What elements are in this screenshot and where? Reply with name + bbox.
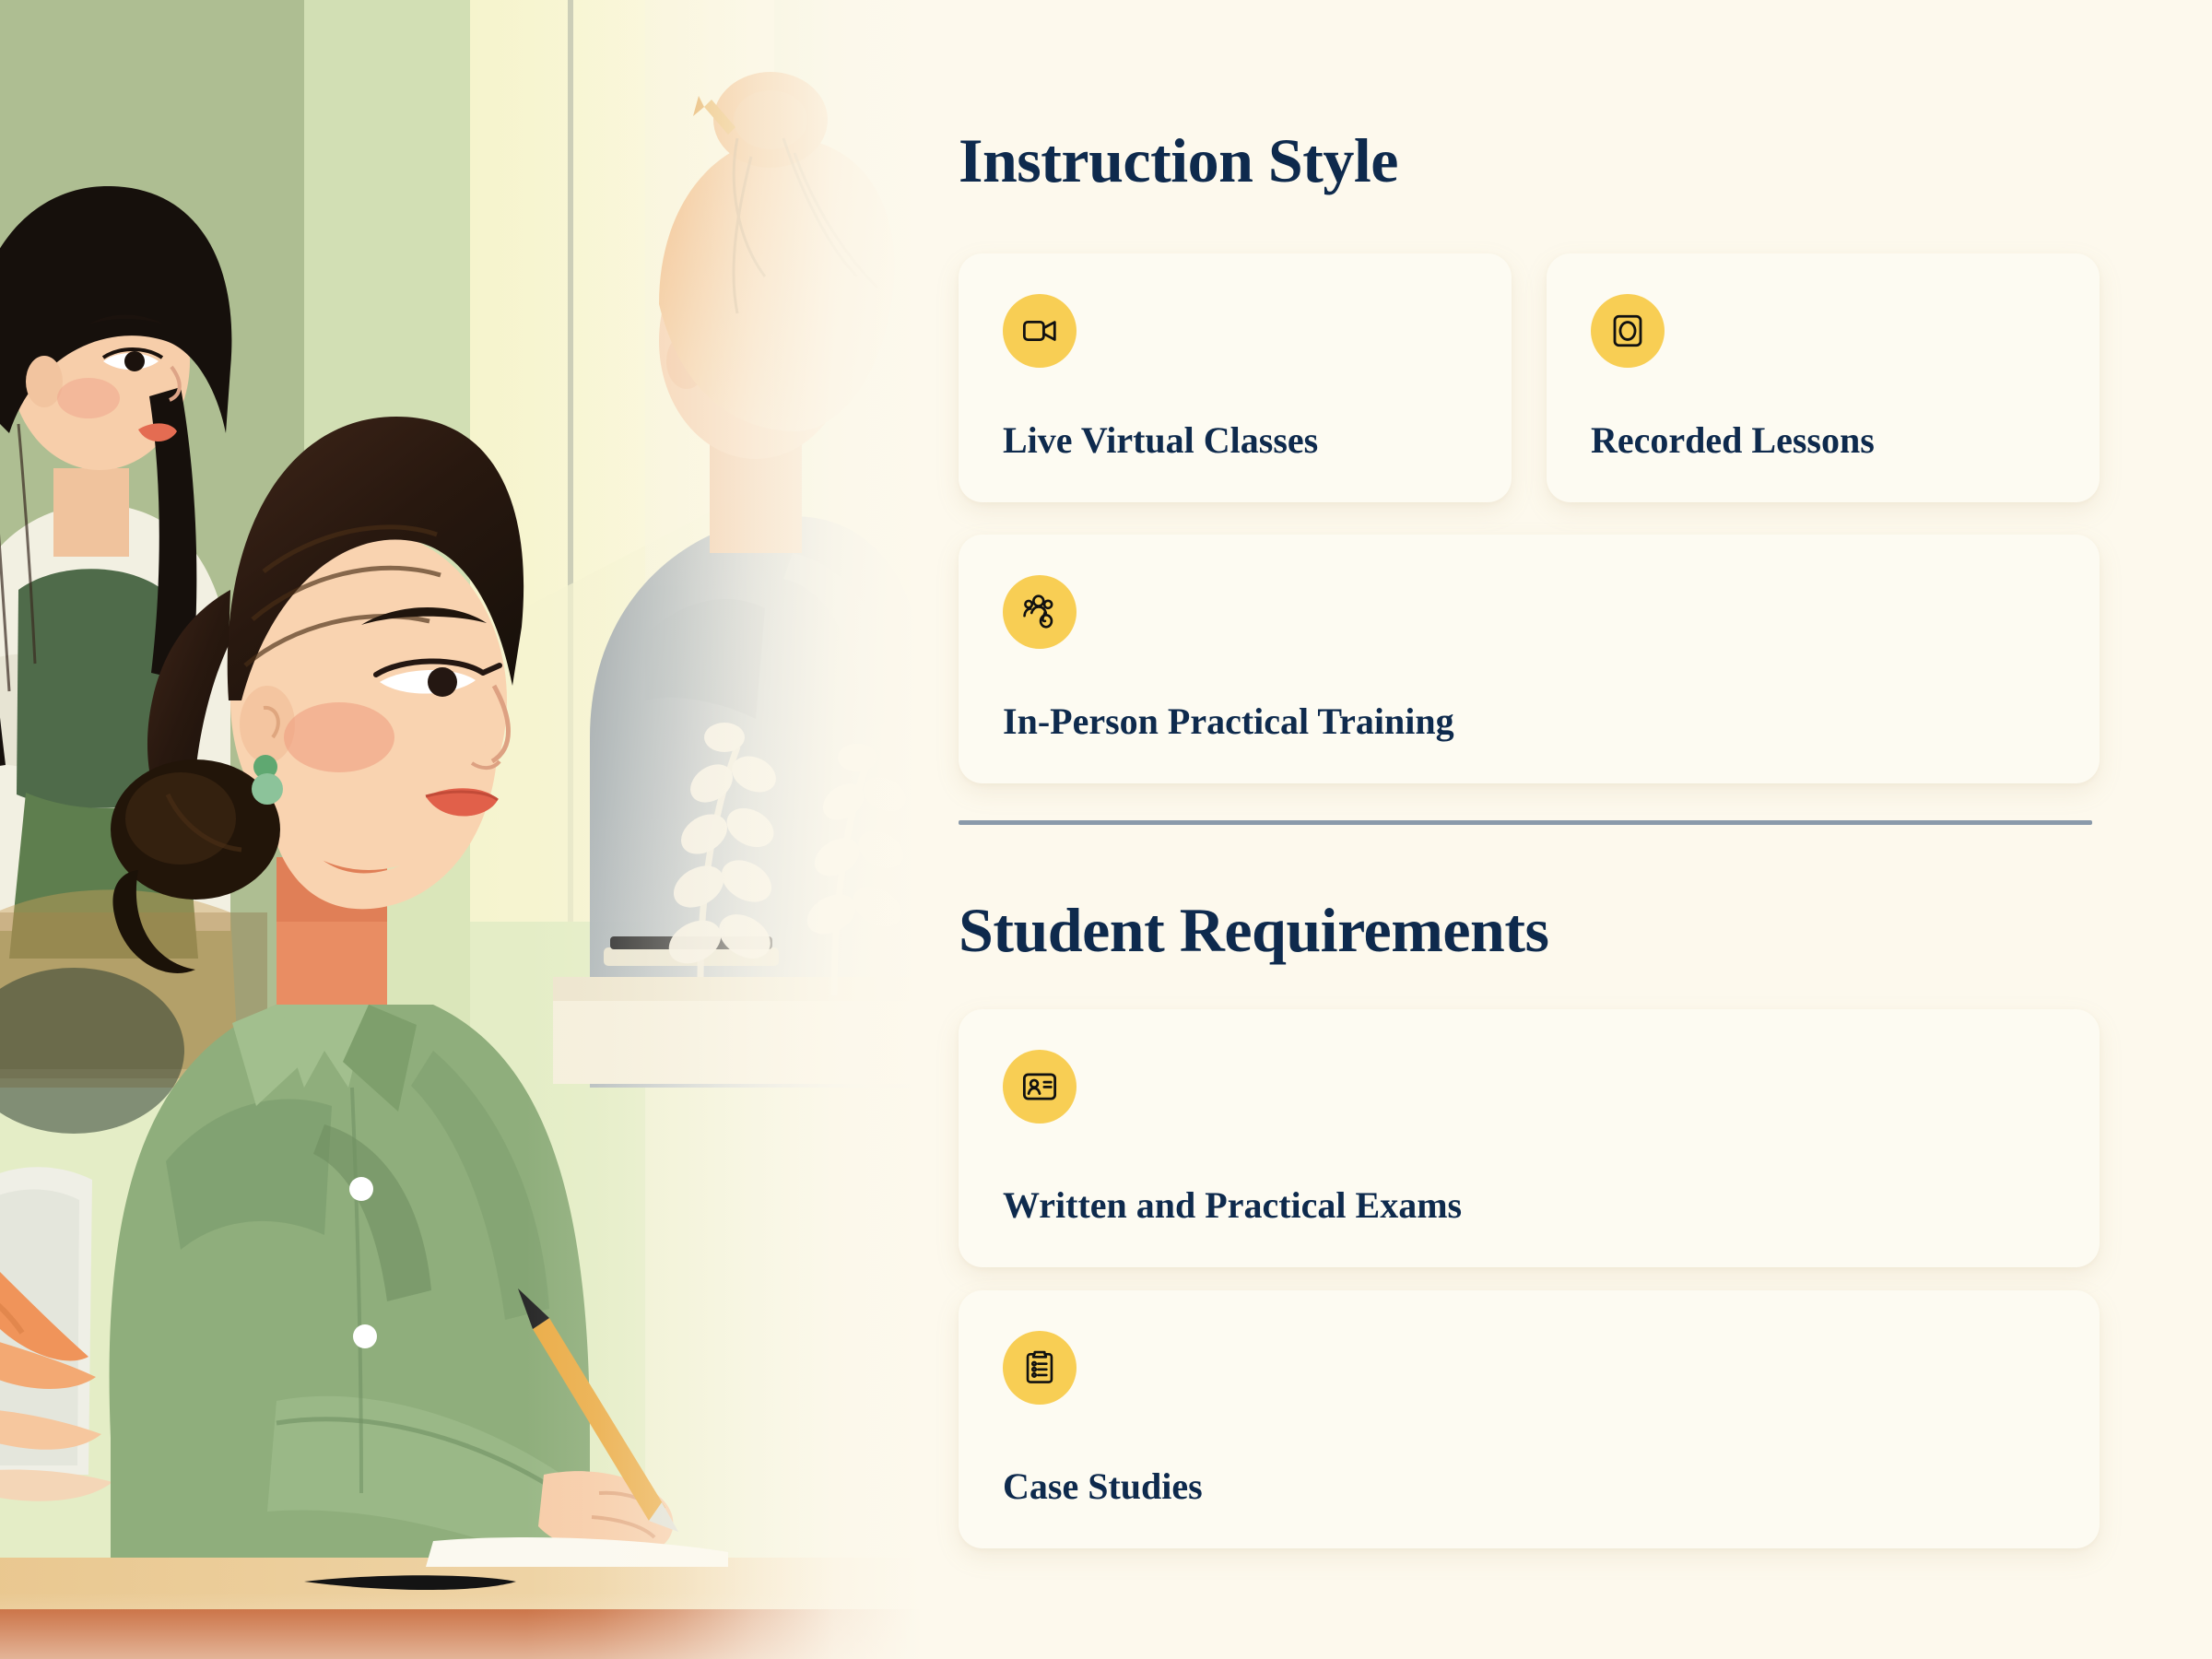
- card-in-person-practical-training[interactable]: In-Person Practical Training: [959, 535, 2100, 783]
- card-live-virtual-classes[interactable]: Live Virtual Classes: [959, 253, 1512, 502]
- id-card-icon: [1020, 1067, 1059, 1106]
- clipboard-checklist-icon-badge: [1003, 1331, 1077, 1405]
- record-square-icon-badge: [1591, 294, 1665, 368]
- card-label: In-Person Practical Training: [1003, 702, 1454, 741]
- student-requirements-heading: Student Requirements: [959, 899, 1548, 961]
- card-label: Case Studies: [1003, 1467, 1203, 1506]
- instruction-style-heading: Instruction Style: [959, 129, 1398, 192]
- card-case-studies[interactable]: Case Studies: [959, 1290, 2100, 1548]
- card-label: Written and Practical Exams: [1003, 1186, 1462, 1225]
- clipboard-checklist-icon: [1020, 1348, 1059, 1387]
- section-divider: [959, 820, 2092, 825]
- card-label: Live Virtual Classes: [1003, 421, 1318, 460]
- slide-root: Instruction Style Live Virtual Classes R…: [0, 0, 2212, 1659]
- group-people-icon: [1020, 593, 1059, 631]
- record-square-icon: [1608, 312, 1647, 350]
- card-written-and-practical-exams[interactable]: Written and Practical Exams: [959, 1009, 2100, 1267]
- card-recorded-lessons[interactable]: Recorded Lessons: [1547, 253, 2100, 502]
- card-label: Recorded Lessons: [1591, 421, 1875, 460]
- video-camera-icon-badge: [1003, 294, 1077, 368]
- classroom-illustration: [0, 0, 922, 1659]
- group-people-icon-badge: [1003, 575, 1077, 649]
- content-panel: Instruction Style Live Virtual Classes R…: [922, 0, 2212, 1659]
- video-camera-icon: [1020, 312, 1059, 350]
- id-card-icon-badge: [1003, 1050, 1077, 1124]
- illustration-artwork: [0, 0, 922, 1659]
